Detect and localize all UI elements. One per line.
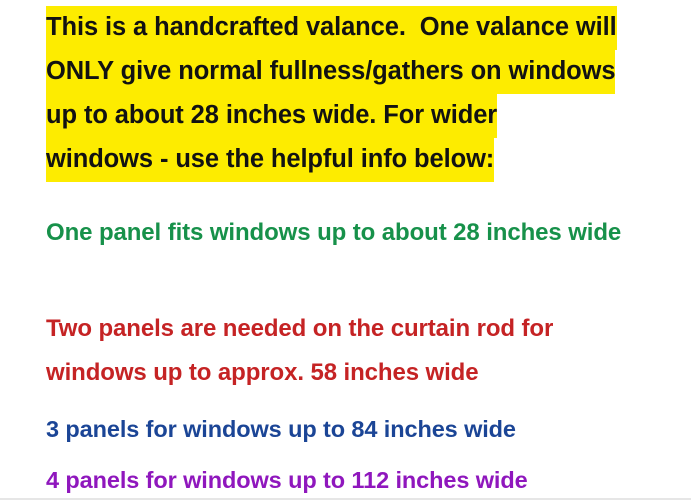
intro-line: up to about 28 inches wide. For wider [46, 93, 497, 137]
panel-guideline-one-panel: One panel fits windows up to about 28 in… [46, 211, 646, 255]
panel-guideline-three-panels: 3 panels for windows up to 84 inches wid… [46, 407, 646, 451]
intro-line-text: up to about 28 inches wide. For wider [46, 94, 497, 138]
highlighted-intro-block: This is a handcrafted valance. One valan… [46, 5, 646, 181]
panel-guideline-two-panels: Two panels are needed on the curtain rod… [46, 307, 646, 395]
panel-guideline-four-panels: 4 panels for windows up to 112 inches wi… [46, 458, 646, 502]
intro-line: ONLY give normal fullness/gathers on win… [46, 49, 615, 93]
intro-line-text: This is a handcrafted valance. One valan… [46, 6, 617, 50]
intro-line-text: windows - use the helpful info below: [46, 138, 494, 182]
valance-sizing-note: This is a handcrafted valance. One valan… [0, 0, 691, 500]
intro-line-text: ONLY give normal fullness/gathers on win… [46, 50, 615, 94]
intro-line: This is a handcrafted valance. One valan… [46, 5, 617, 49]
intro-line: windows - use the helpful info below: [46, 137, 494, 181]
